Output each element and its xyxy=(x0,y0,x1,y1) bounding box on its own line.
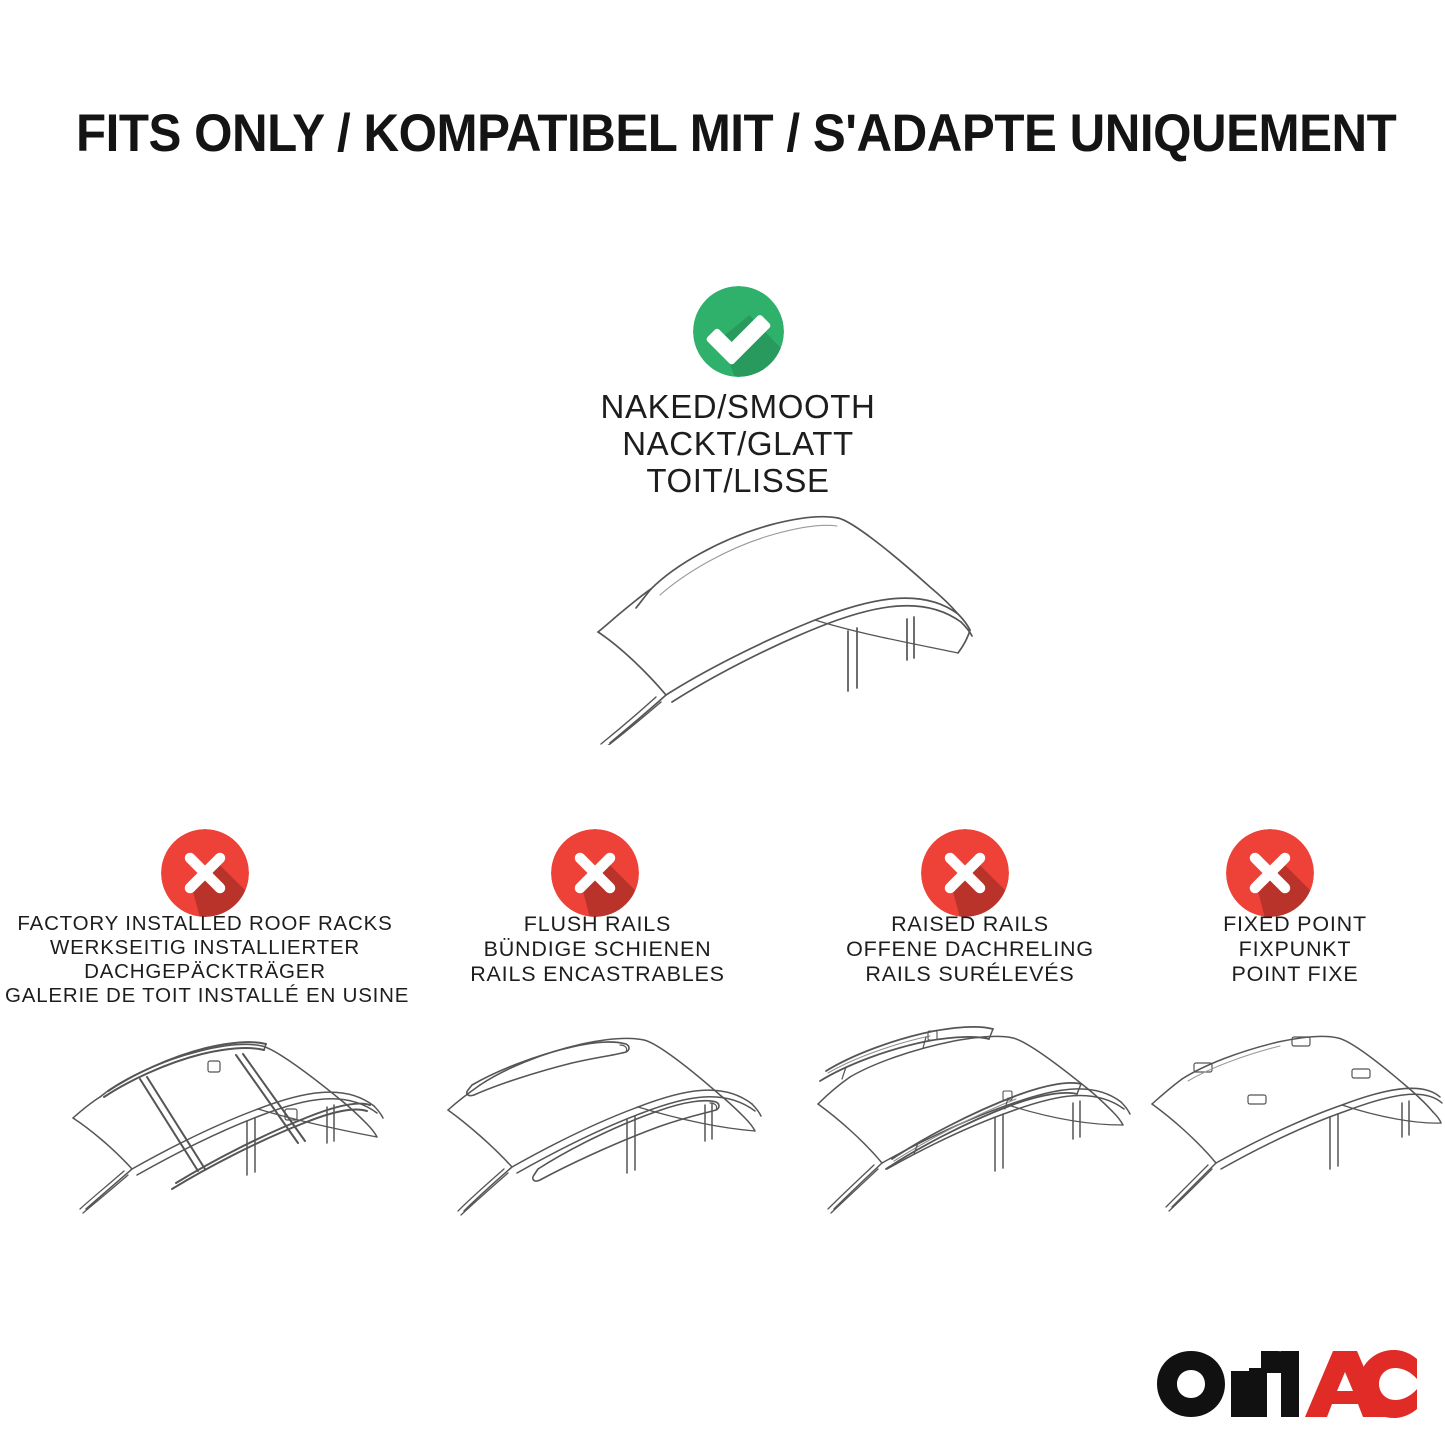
compatible-label-line-3: TOIT/LISSE xyxy=(488,462,988,499)
x-circle-icon xyxy=(1226,829,1314,917)
compatibility-infographic: FITS ONLY / KOMPATIBEL MIT / S'ADAPTE UN… xyxy=(0,0,1445,1445)
raised-rails-illustration xyxy=(790,1025,1165,1240)
x-circle-icon xyxy=(551,829,639,917)
x-circle-icon xyxy=(921,829,1009,917)
label-line-1: FLUSH RAILS xyxy=(425,912,770,937)
label-line-3: RAILS ENCASTRABLES xyxy=(425,962,770,987)
label-line-3: DACHGEPÄCKTRÄGER xyxy=(5,960,405,984)
fixed-point-illustration xyxy=(1140,1025,1445,1240)
label-line-2: WERKSEITIG INSTALLIERTER xyxy=(5,936,405,960)
label-line-2: OFFENE DACHRELING xyxy=(790,937,1150,962)
incompatible-label-flush-rails: FLUSH RAILS BÜNDIGE SCHIENEN RAILS ENCAS… xyxy=(425,912,770,987)
incompatible-label-factory-racks: FACTORY INSTALLED ROOF RACKS WERKSEITIG … xyxy=(5,912,405,1008)
omac-logo xyxy=(1155,1337,1417,1423)
incompatible-label-fixed-point: FIXED POINT FIXPUNKT POINT FIXE xyxy=(1145,912,1445,987)
naked-smooth-roof-illustration xyxy=(470,495,990,745)
label-line-3: POINT FIXE xyxy=(1145,962,1445,987)
flush-rails-illustration xyxy=(420,1025,795,1240)
label-line-1: FACTORY INSTALLED ROOF RACKS xyxy=(5,912,405,936)
label-line-1: RAISED RAILS xyxy=(790,912,1150,937)
label-line-2: FIXPUNKT xyxy=(1145,937,1445,962)
factory-roof-racks-illustration xyxy=(40,1025,415,1240)
compatible-label: NAKED/SMOOTH NACKT/GLATT TOIT/LISSE xyxy=(488,388,988,499)
label-line-4: GALERIE DE TOIT INSTALLÉ EN USINE xyxy=(5,984,405,1008)
compatible-label-line-2: NACKT/GLATT xyxy=(488,425,988,462)
label-line-1: FIXED POINT xyxy=(1145,912,1445,937)
check-circle-icon xyxy=(693,286,784,377)
label-line-2: BÜNDIGE SCHIENEN xyxy=(425,937,770,962)
incompatible-label-raised-rails: RAISED RAILS OFFENE DACHRELING RAILS SUR… xyxy=(790,912,1150,987)
compatible-label-line-1: NAKED/SMOOTH xyxy=(488,388,988,425)
label-line-3: RAILS SURÉLEVÉS xyxy=(790,962,1150,987)
page-title: FITS ONLY / KOMPATIBEL MIT / S'ADAPTE UN… xyxy=(76,104,1285,164)
x-circle-icon xyxy=(161,829,249,917)
